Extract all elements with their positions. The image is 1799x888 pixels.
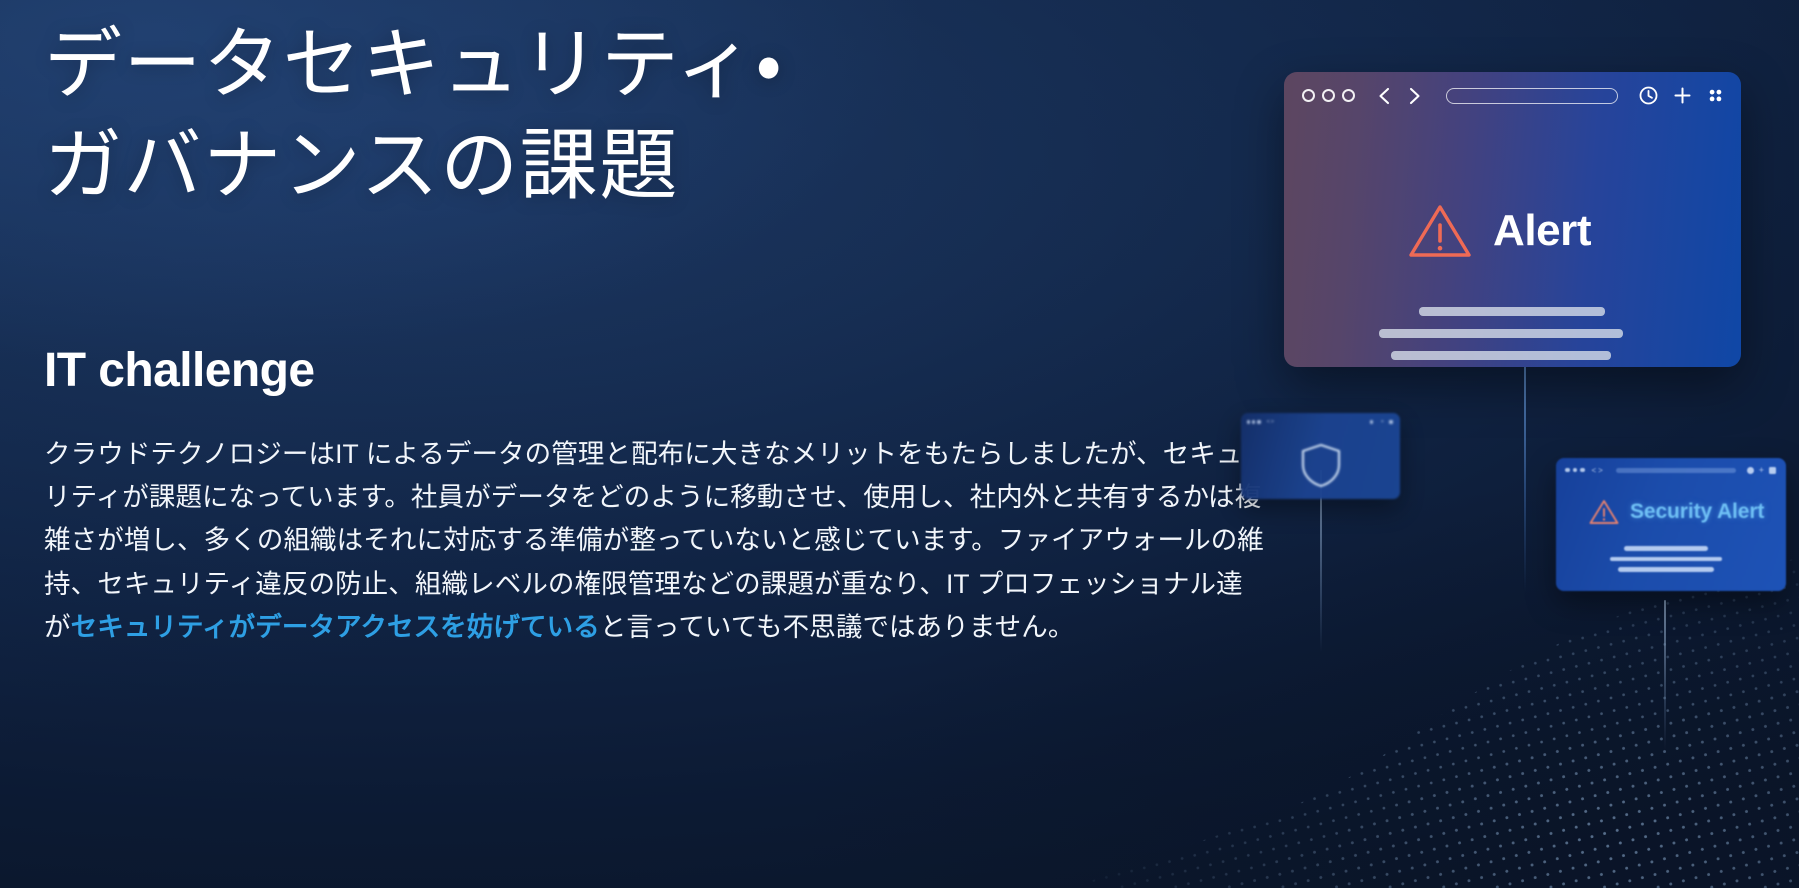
page-title: データセキュリティ・ ガバナンスの課題 [44,14,1274,217]
placeholder-line [1618,567,1714,572]
body-text-highlight[interactable]: セキュリティがデータアクセスを妨げている [71,612,600,642]
alert-banner: Alert [1407,202,1591,260]
placeholder-text-lines [1379,307,1639,367]
browser-toolbar [1284,72,1741,119]
clock-icon [1747,467,1754,474]
three-circles-icon[interactable] [1302,89,1355,102]
address-bar[interactable] [1446,88,1618,104]
window-dot [1247,420,1250,423]
placeholder-line [1624,546,1708,551]
clock-icon [1370,420,1373,423]
body-paragraph: クラウドテクノロジーはIT によるデータの管理と配布に大きなメリットをもたらしま… [44,433,1266,650]
window-dot [1252,420,1255,423]
warning-triangle-icon [1407,202,1473,260]
security-toolbar-actions: + [1747,466,1776,475]
window-dot [1342,89,1355,102]
shield-browser-window: <> + [1241,413,1400,499]
window-dot [1302,89,1315,102]
alert-browser-window: Alert [1284,72,1741,367]
window-dot [1573,468,1578,473]
slide-canvas: データセキュリティ・ ガバナンスの課題 IT challenge クラウドテクノ… [0,0,1799,888]
grid-icon[interactable] [1706,86,1725,105]
three-circles-icon: <> [1247,419,1275,425]
navigation-controls [1377,86,1422,106]
nav-chevrons-icon: <> [1592,466,1605,475]
shield-icon [1298,441,1344,489]
security-alert-title: Security Alert [1630,500,1764,524]
security-alert-browser-window: <> + Security Alert [1556,458,1786,591]
placeholder-line [1610,557,1722,562]
alert-title: Alert [1493,209,1591,253]
three-circles-icon [1565,468,1585,473]
text-column: データセキュリティ・ ガバナンスの課題 IT challenge クラウドテクノ… [44,14,1274,650]
placeholder-line [1419,307,1605,316]
window-dot [1580,468,1585,473]
grid-icon [1769,467,1776,474]
section-heading: IT challenge [44,345,1274,398]
connector-line-security-down [1664,600,1666,750]
chevron-left-icon[interactable] [1377,86,1392,106]
window-dot [1565,468,1570,473]
shield-window-toolbar: <> + [1241,413,1400,431]
alert-window-body: Alert [1284,119,1741,367]
warning-triangle-icon [1588,498,1620,526]
clock-icon[interactable] [1638,85,1659,106]
security-alert-banner: Security Alert [1588,498,1764,526]
body-text-part2: と言っていても不思議ではありません。 [600,612,1075,642]
placeholder-line [1391,351,1611,360]
chevron-right-icon[interactable] [1407,86,1422,106]
security-window-toolbar: <> + [1556,458,1786,482]
grid-icon [1389,420,1393,424]
placeholder-line [1379,329,1623,338]
plus-icon: + [1381,419,1385,425]
plus-icon[interactable] [1673,86,1692,105]
shield-toolbar-actions: + [1370,419,1393,425]
nav-chevrons-icon: <> [1267,419,1275,425]
address-bar [1616,468,1736,473]
plus-icon: + [1759,466,1764,475]
toolbar-actions [1638,85,1725,106]
placeholder-text-lines [1610,546,1722,578]
window-dot [1257,420,1260,423]
window-dot [1322,89,1335,102]
